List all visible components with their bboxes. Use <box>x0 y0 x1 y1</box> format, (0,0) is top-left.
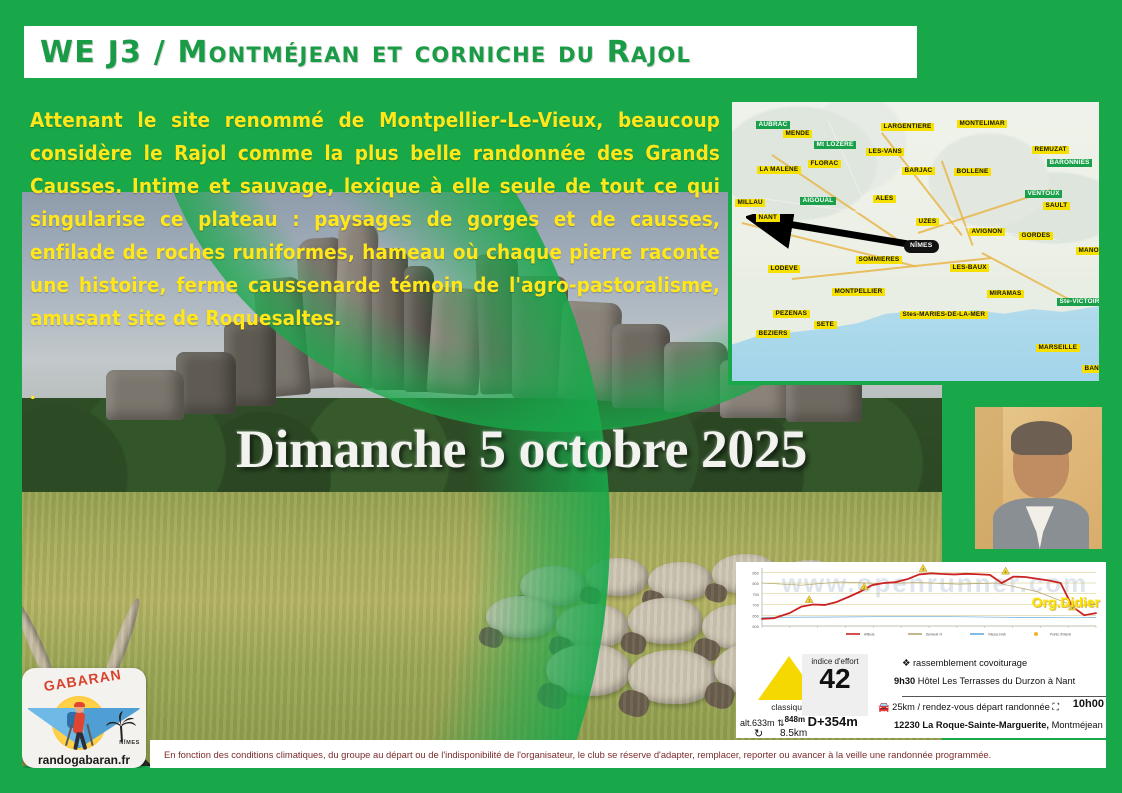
altitude-max: 848m <box>785 715 805 724</box>
frame-top <box>0 0 1122 26</box>
map-label-town: Stes-MARIES-DE-LA-MER <box>900 311 988 319</box>
map-label-town: LES-BAUX <box>950 264 989 272</box>
map-label-town: NANT <box>756 214 780 222</box>
svg-text:700: 700 <box>752 603 759 608</box>
frame-right <box>1106 0 1122 793</box>
start-hamlet: Montméjean <box>1052 720 1103 730</box>
map-label-nimes: NÎMES <box>904 240 939 253</box>
organizer-portrait <box>972 404 1105 552</box>
transfer-text: 25km / rendez-vous départ randonnée <box>892 702 1050 712</box>
map-terrain: NÎMES MENDELARGENTIEREMONTELIMARREMUZATL… <box>732 102 1099 381</box>
svg-text:600: 600 <box>752 624 759 629</box>
parking-icon: ⛶ <box>1052 702 1059 712</box>
map-label-town: MONTELIMAR <box>957 120 1007 128</box>
club-logo[interactable]: GABARAN NÎMES randogabaran.fr <box>22 668 146 768</box>
effort-index-value: 42 <box>802 666 868 692</box>
frame-bottom <box>0 768 1122 793</box>
svg-text:650: 650 <box>752 613 759 618</box>
map-label-region: Ste-VICTOIRE <box>1057 298 1103 306</box>
svg-text:Altitude: Altitude <box>864 632 875 636</box>
divider <box>902 696 1106 697</box>
frame-left <box>0 0 22 793</box>
map-label-town: BARJAC <box>902 167 935 175</box>
carpool-icon: ❖ <box>902 658 910 668</box>
start-postcode-place: 12230 La Roque-Sainte-Marguerite, <box>894 720 1049 730</box>
map-label-town: LARGENTIERE <box>881 123 934 131</box>
svg-text:2: 2 <box>863 586 865 590</box>
svg-text:3: 3 <box>922 568 924 572</box>
map-label-town: LES-VANS <box>866 148 904 156</box>
map-label-town: GORDES <box>1019 232 1053 240</box>
logo-city: NÎMES <box>119 740 140 746</box>
map-label-region: VENTOUX <box>1025 190 1062 198</box>
meeting-details: ❖ rassemblement covoiturage 9h30 Hôtel L… <box>876 654 1106 738</box>
map-label-town: MANOSQUE <box>1076 247 1103 255</box>
map-label-town: PEZENAS <box>773 310 810 318</box>
map-label-town: MENDE <box>783 130 812 138</box>
map-label-region: AUBRAC <box>756 121 790 129</box>
map-label-town: ALES <box>873 195 896 203</box>
intro-bullet: . <box>30 382 36 405</box>
svg-text:750: 750 <box>752 592 759 597</box>
map-label-town: FLORAC <box>808 160 841 168</box>
car-transfer-icon: 🚘 <box>878 702 890 712</box>
meet-time: 9h30 <box>894 676 915 686</box>
effort-index-box: indice d'effort 42 <box>802 654 868 716</box>
map-label-town: SOMMIERES <box>856 256 902 264</box>
map-label-town: LA MALENE <box>757 166 801 174</box>
map-label-town: AVIGNON <box>969 228 1005 236</box>
page-title: WE J3 / Montméjean et corniche du Rajol <box>24 35 691 70</box>
hike-info-panel: classique alt.633m ⇅848m D+354m ↻ 8.5km … <box>736 654 1106 738</box>
elevation-profile-chart[interactable]: www.openrunner.com 600650700750800850123… <box>736 562 1106 654</box>
intro-paragraph: Attenant le site renommé de Montpellier-… <box>30 104 720 335</box>
map-label-town: BEZIERS <box>756 330 790 338</box>
map-label-town: BANDOL <box>1082 365 1103 373</box>
map-label-town: MARSEILLE <box>1036 344 1080 352</box>
map-label-town: MILLAU <box>735 199 765 207</box>
disclaimer-text: En fonction des conditions climatiques, … <box>150 749 991 760</box>
map-label-region: BARONNIES <box>1047 159 1092 167</box>
map-label-region: AIGOUAL <box>800 197 836 205</box>
svg-text:Vitesse km/h: Vitesse km/h <box>988 632 1006 636</box>
poster-root: Dimanche 5 octobre 2025 WE J3 / Montméje… <box>0 0 1122 793</box>
map-label-town: SETE <box>814 321 837 329</box>
map-label-town: SAULT <box>1043 202 1070 210</box>
svg-text:Dénivelé %: Dénivelé % <box>926 632 942 636</box>
map-label-town: REMUZAT <box>1032 146 1069 154</box>
title-bar: WE J3 / Montméjean et corniche du Rajol <box>24 26 917 78</box>
svg-text:4: 4 <box>1005 570 1007 574</box>
map-label-town: MONTPELLIER <box>832 288 885 296</box>
disclaimer-bar: En fonction des conditions climatiques, … <box>150 740 1106 768</box>
updown-icon: ⇅ <box>777 718 785 728</box>
chart-author-watermark: Org.Didier <box>1032 594 1100 610</box>
map-label-town: BOLLENE <box>954 168 991 176</box>
distance-value: 8.5km <box>780 728 807 739</box>
map-label-town: LODEVE <box>768 265 800 273</box>
map-label-region: Mt LOZERE <box>814 141 856 149</box>
map-label-town: UZES <box>916 218 939 226</box>
svg-text:Points d'intérêt: Points d'intérêt <box>1050 632 1071 636</box>
svg-text:800: 800 <box>752 581 759 586</box>
denivele: D+354m <box>808 714 858 729</box>
map-label-town: MIRAMAS <box>987 290 1024 298</box>
carpool-label: rassemblement covoiturage <box>913 658 1027 668</box>
loop-icon: ↻ <box>754 727 763 740</box>
location-map[interactable]: NÎMES MENDELARGENTIEREMONTELIMARREMUZATL… <box>728 98 1103 385</box>
hiker-icon <box>66 702 92 748</box>
svg-text:1: 1 <box>808 599 810 603</box>
start-time: 10h00 <box>1073 698 1104 710</box>
date-banner: Dimanche 5 octobre 2025 <box>236 418 807 480</box>
svg-text:850: 850 <box>752 570 759 575</box>
palm-tree-icon <box>104 710 138 744</box>
meet-place: Hôtel Les Terrasses du Durzon à Nant <box>918 676 1075 686</box>
logo-url: randogabaran.fr <box>22 753 146 767</box>
